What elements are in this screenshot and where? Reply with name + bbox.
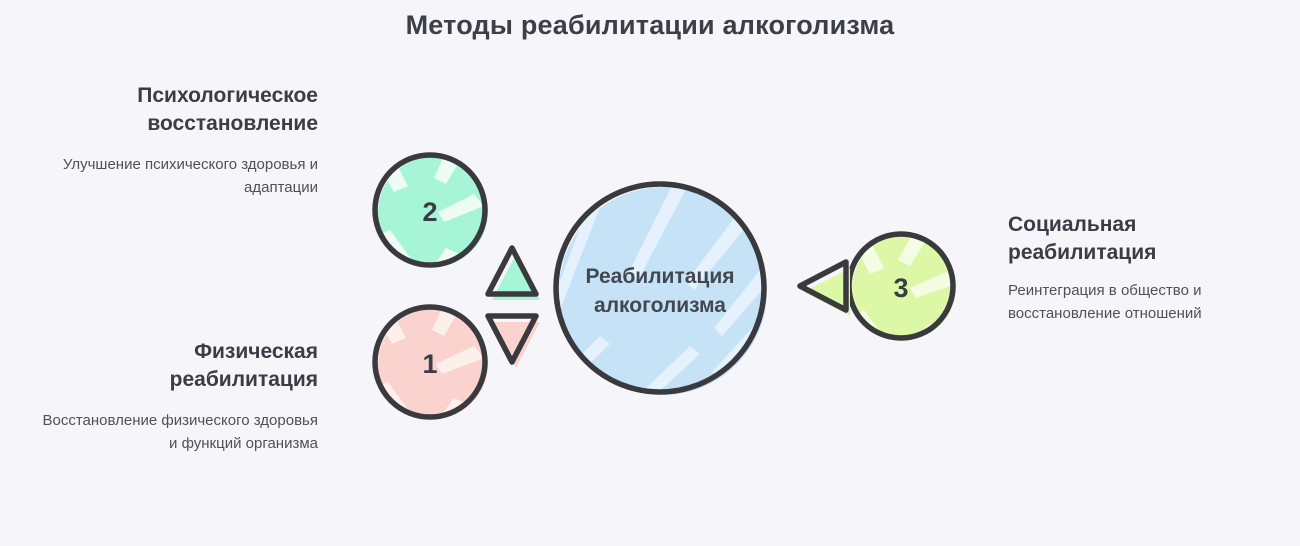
heading-social: Социальная реабилитация (1008, 211, 1258, 266)
heading-psychological: Психологическое восстановление (40, 82, 318, 137)
text-block-physical: Физическая реабилитация Восстановление ф… (40, 338, 318, 456)
triangle-up-icon (488, 248, 540, 300)
diagram-group: Реабилитация алкоголизма 2 (350, 140, 990, 430)
heading-physical-line2: реабилитация (40, 366, 318, 394)
text-block-psychological: Психологическое восстановление Улучшение… (40, 82, 318, 200)
text-block-social: Социальная реабилитация Реинтеграция в о… (1008, 211, 1258, 326)
node-3-number: 3 (893, 273, 908, 303)
heading-social-line2: реабилитация (1008, 239, 1258, 267)
center-node: Реабилитация алкоголизма (548, 170, 778, 400)
node-3[interactable]: 3 (848, 226, 956, 350)
triangle-down-icon-fill (492, 322, 540, 368)
node-1-number: 1 (422, 349, 437, 379)
node-2[interactable]: 2 (370, 142, 488, 274)
heading-social-line1: Социальная (1008, 211, 1258, 239)
node-2-number: 2 (422, 197, 437, 227)
body-psychological: Улучшение психического здоровья и адапта… (40, 154, 318, 200)
triangle-down-icon (488, 316, 540, 368)
heading-physical: Физическая реабилитация (40, 338, 318, 393)
heading-physical-line1: Физическая (40, 338, 318, 366)
center-node-label-line2: алкоголизма (594, 294, 726, 317)
body-physical: Восстановление физического здоровья и фу… (40, 410, 318, 456)
center-node-label-line1: Реабилитация (585, 265, 734, 288)
infographic-canvas: Методы реабилитации алкоголизма Психолог… (0, 0, 1300, 546)
heading-psychological-line1: Психологическое (40, 82, 318, 110)
triangle-left-icon (800, 262, 850, 316)
page-title: Методы реабилитации алкоголизма (0, 10, 1300, 41)
node-1[interactable]: 1 (368, 294, 488, 426)
heading-psychological-line2: восстановление (40, 110, 318, 138)
body-social: Реинтеграция в общество и восстановление… (1008, 280, 1258, 326)
